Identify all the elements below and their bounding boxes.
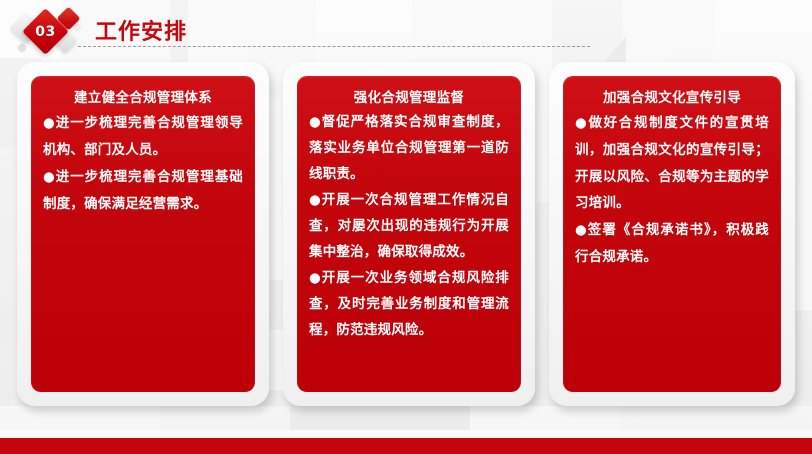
card-1-title: 建立健全合规管理体系 (43, 88, 243, 108)
card-2-bullet-3: ●开展一次业务领域合规风险排查，及时完善业务制度和管理流程，防范违规风险。 (309, 266, 509, 344)
card-3-panel: 加强合规文化宣传引导 ●做好合规制度文件的宣贯培训，加强合规文化的宣传引导；开展… (563, 76, 781, 392)
card-1-bullet-2: ●进一步梳理完善合规管理基础制度，确保满足经营需求。 (43, 164, 243, 218)
slide-canvas: 03 工作安排 建立健全合规管理体系 ●进一步梳理完善合规管理领导机构、部门及人… (0, 0, 812, 454)
content-card-2[interactable]: 强化合规管理监督 ●督促严格落实合规审查制度，落实业务单位合规管理第一道防线职责… (283, 62, 535, 406)
card-3-bullet-2: ●签署《合规承诺书》，积极践行合规承诺。 (575, 217, 769, 270)
card-2-body: ●督促严格落实合规审查制度，落实业务单位合规管理第一道防线职责。 ●开展一次合规… (309, 110, 509, 343)
content-card-1[interactable]: 建立健全合规管理体系 ●进一步梳理完善合规管理领导机构、部门及人员。 ●进一步梳… (17, 62, 269, 406)
card-2-bullet-1: ●督促严格落实合规审查制度，落实业务单位合规管理第一道防线职责。 (309, 110, 509, 188)
footer-spacer (0, 430, 812, 438)
footer-accent-bar (0, 438, 812, 454)
content-card-3[interactable]: 加强合规文化宣传引导 ●做好合规制度文件的宣贯培训，加强合规文化的宣传引导；开展… (549, 62, 795, 406)
card-1-bullet-1: ●进一步梳理完善合规管理领导机构、部门及人员。 (43, 110, 243, 164)
card-1-panel: 建立健全合规管理体系 ●进一步梳理完善合规管理领导机构、部门及人员。 ●进一步梳… (31, 76, 255, 392)
section-number: 03 (29, 15, 62, 48)
card-3-body: ●做好合规制度文件的宣贯培训，加强合规文化的宣传引导；开展以风险、合规等为主题的… (575, 110, 769, 270)
card-3-bullet-1: ●做好合规制度文件的宣贯培训，加强合规文化的宣传引导；开展以风险、合规等为主题的… (575, 110, 769, 217)
card-2-panel: 强化合规管理监督 ●督促严格落实合规审查制度，落实业务单位合规管理第一道防线职责… (297, 76, 521, 392)
card-2-title: 强化合规管理监督 (309, 88, 509, 108)
card-1-body: ●进一步梳理完善合规管理领导机构、部门及人员。 ●进一步梳理完善合规管理基础制度… (43, 110, 243, 218)
card-3-title: 加强合规文化宣传引导 (575, 88, 769, 108)
card-2-bullet-2: ●开展一次合规管理工作情况自查，对屡次出现的违规行为开展集中整治，确保取得成效。 (309, 188, 509, 266)
cards-container: 建立健全合规管理体系 ●进一步梳理完善合规管理领导机构、部门及人员。 ●进一步梳… (0, 0, 812, 454)
